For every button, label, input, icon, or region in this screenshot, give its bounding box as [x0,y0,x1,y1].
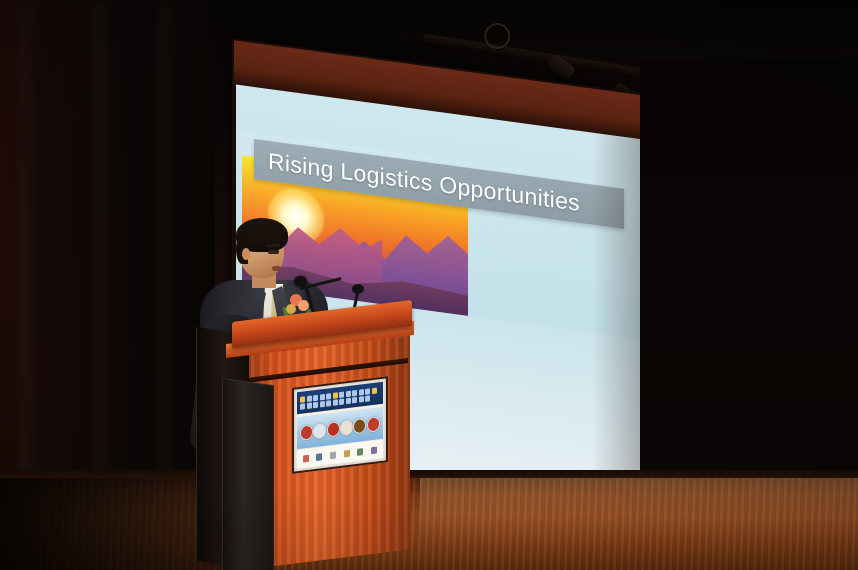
microphone-icon [294,276,307,287]
curtain-right [640,60,858,480]
portrait-medallion [313,422,326,439]
portrait-medallion [300,424,313,441]
portrait-medallion [367,416,380,433]
sponsor-logo-icon [330,451,336,459]
sponsor-logo-icon [344,449,350,457]
stage-photograph: Rising Logistics Opportunities [0,0,858,570]
portrait-medallion [340,419,353,436]
portrait-medallion [353,417,366,434]
sponsor-logo-icon [371,446,377,454]
speaker-mouth [272,266,281,271]
portrait-medallion [327,421,340,438]
floor-reflection [420,478,858,570]
microphone-icon-secondary [352,284,364,294]
speaker-ear [242,248,250,260]
podium-event-sign [292,376,388,474]
flower-petal [298,300,309,311]
speaker-eye [268,250,279,254]
sponsor-logo-icon [357,448,363,456]
flower-petal [286,304,296,314]
sponsor-logo-icon [316,453,322,461]
stage-speaker-cabinet [222,378,274,570]
sponsor-logo-icon [303,454,309,462]
